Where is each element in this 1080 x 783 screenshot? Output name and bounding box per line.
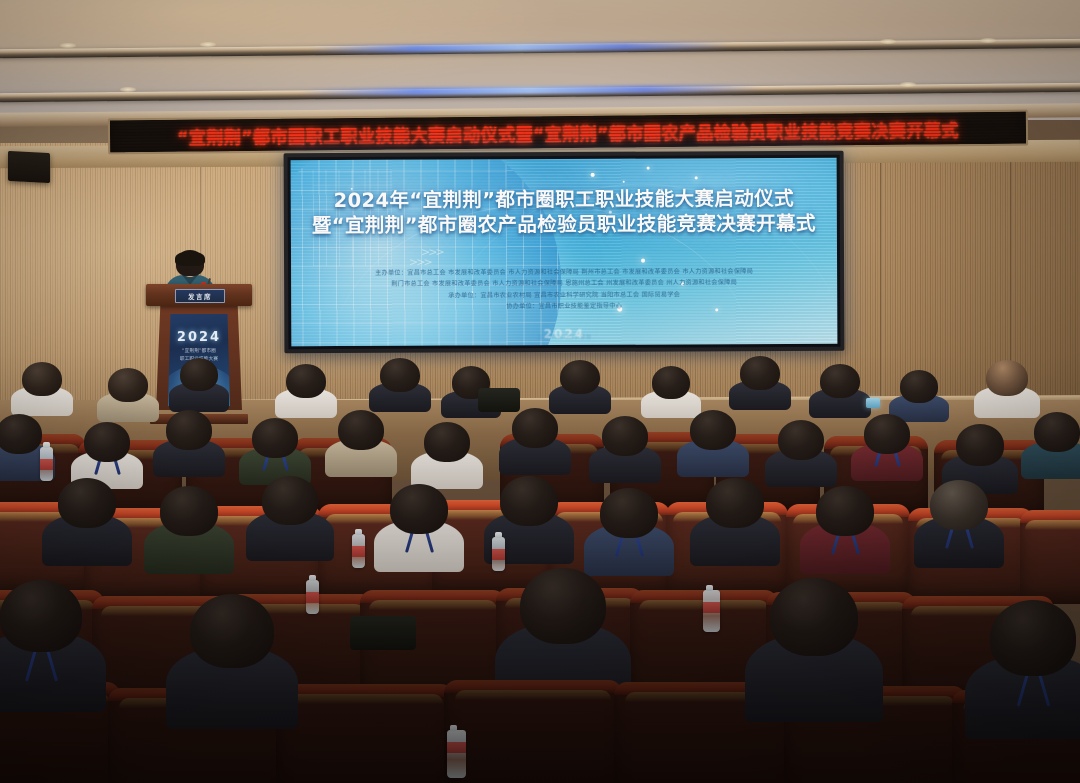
ceiling (0, 0, 1080, 120)
audience-member-head (900, 370, 938, 403)
water-bottle (352, 534, 365, 568)
auditorium-seat (276, 684, 454, 783)
led-screen-title: 2024年“宜荆荆”都市圈职工职业技能大赛启动仪式 暨“宜荆荆”都市圈农产品检验… (291, 186, 837, 239)
auditorium-seat (1020, 510, 1080, 604)
podium-nameplate-text: 发言席 (188, 291, 212, 301)
audience-member-head (520, 568, 606, 644)
phone-screen-icon (866, 398, 880, 408)
wall-speaker-icon (8, 151, 50, 183)
audience-member-head (252, 418, 298, 458)
led-organizer-block: 主办单位：宜昌市总工会 市发展和改革委员会 市人力资源和社会保障局 荆州市总工会… (291, 266, 837, 314)
audience-member-head (286, 364, 326, 398)
audience-member-head (930, 480, 988, 530)
audience-member-head (338, 410, 384, 450)
audience-member-head (22, 362, 62, 396)
bottle-label (40, 459, 53, 470)
audience-member-head (864, 414, 910, 454)
ceiling-spot-light (120, 87, 136, 92)
ceiling-spot-light (60, 43, 76, 48)
light-particle (641, 259, 645, 263)
audience-member-head (990, 600, 1076, 676)
bottle-label (492, 549, 505, 560)
organizer-line: 协办单位：宜昌市职业技能鉴定指导中心 (291, 300, 837, 314)
light-particle (695, 176, 698, 179)
led-ticker-text: “宜荆荆”都市圈职工职业技能大赛启动仪式暨“宜荆荆”都市圈农产品检验员职业技能竞… (177, 115, 959, 149)
water-bottle (306, 580, 319, 614)
audience-member-head (160, 486, 218, 536)
audience-area (0, 352, 1080, 783)
audience-member-head (262, 476, 318, 525)
audience-member-head (602, 416, 648, 456)
audience-member-head (600, 488, 658, 538)
water-bottle (447, 730, 466, 778)
audience-member-head (108, 368, 148, 402)
ceiling-spot-light (200, 42, 216, 47)
audience-member-head (778, 420, 824, 460)
audience-member-head (190, 594, 274, 668)
ceiling-light-wash (0, 0, 1080, 120)
audience-member-head (500, 476, 558, 526)
led-title-line-1: 2024年“宜荆荆”都市圈职工职业技能大赛启动仪式 (334, 187, 795, 212)
speaker-fringe (175, 251, 205, 266)
audience-member-head (424, 422, 470, 462)
audience-member-head (84, 422, 130, 462)
bag (350, 616, 416, 650)
water-bottle (703, 590, 720, 632)
audience-member-head (652, 366, 690, 399)
led-title-line-2: 暨“宜荆荆”都市圈农产品检验员职业技能竞赛决赛开幕式 (291, 211, 837, 239)
light-particle (623, 181, 625, 183)
light-particle (591, 173, 595, 177)
audience-member-head (816, 486, 874, 536)
podium-nameplate: 发言席 (175, 289, 225, 303)
bottle-label (703, 602, 720, 613)
bottle-label (306, 592, 319, 603)
led-screen: >>> >>> 2024年“宜荆荆”都市圈职工职业技能大赛启动仪式 暨“宜荆荆”… (291, 158, 838, 346)
audience-member-head (706, 478, 764, 528)
audience-member-head (512, 408, 558, 448)
auditorium-seat (444, 680, 622, 783)
audience-member-head (58, 478, 116, 528)
audience-member-head (180, 358, 218, 391)
ceiling-spot-light (900, 82, 916, 87)
audience-member-head (986, 360, 1028, 396)
water-bottle (492, 537, 505, 571)
podium-year: 2024 (168, 330, 230, 345)
audience-member-head (770, 578, 858, 656)
audience-member-head (690, 410, 736, 450)
audience-member-head (560, 360, 600, 394)
audience-member-head (820, 364, 860, 398)
ceiling-spot-light (880, 39, 896, 44)
audience-member-head (1034, 412, 1080, 452)
audience-member-head (740, 356, 780, 390)
bottle-label (447, 742, 466, 753)
led-screen-frame: >>> >>> 2024年“宜荆荆”都市圈职工职业技能大赛启动仪式 暨“宜荆荆”… (284, 151, 845, 353)
audience-member-head (390, 484, 448, 534)
audience-member-head (0, 414, 42, 454)
bottle-label (352, 546, 365, 557)
light-particle (647, 167, 650, 170)
audience-member-head (956, 424, 1004, 466)
ceiling-spot-light (980, 38, 996, 43)
audience-member-head (0, 580, 82, 652)
audience-member-head (166, 410, 212, 450)
photograph-scene: “宜荆荆”都市圈职工职业技能大赛启动仪式暨“宜荆荆”都市圈农产品检验员职业技能竞… (0, 0, 1080, 783)
water-bottle (40, 447, 53, 481)
bag (478, 388, 520, 412)
audience-member-head (380, 358, 420, 392)
